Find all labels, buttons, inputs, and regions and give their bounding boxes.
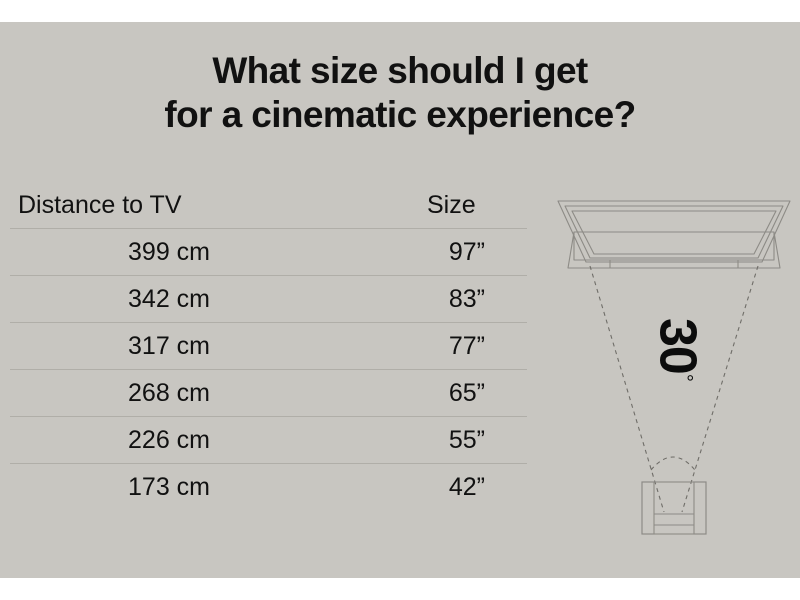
title-line-2: for a cinematic experience?: [0, 93, 800, 137]
cell-distance: 399 cm: [0, 229, 210, 276]
cell-size: 65”: [340, 370, 485, 417]
table-row: 399 cm 97”: [0, 229, 540, 276]
title-line-1: What size should I get: [0, 49, 800, 93]
cell-size: 42”: [340, 464, 485, 511]
table-row: 317 cm 77”: [0, 323, 540, 370]
distance-size-table: Distance to TV Size 399 cm 97” 342 cm 83…: [0, 182, 540, 511]
cell-size: 97”: [340, 229, 485, 276]
degree-symbol: °: [674, 374, 696, 381]
sofa-top-view: [642, 482, 706, 534]
column-header-size: Size: [427, 182, 476, 229]
infographic-panel: What size should I get for a cinematic e…: [0, 22, 800, 578]
angle-label: 30°: [655, 318, 715, 398]
cell-distance: 268 cm: [0, 370, 210, 417]
cell-distance: 226 cm: [0, 417, 210, 464]
page-title: What size should I get for a cinematic e…: [0, 49, 800, 137]
table-row: 173 cm 42”: [0, 464, 540, 511]
cell-size: 55”: [340, 417, 485, 464]
cell-distance: 173 cm: [0, 464, 210, 511]
cell-size: 77”: [340, 323, 485, 370]
angle-value: 30: [649, 318, 707, 374]
column-header-distance: Distance to TV: [18, 182, 182, 229]
table-header-row: Distance to TV Size: [0, 182, 540, 229]
infographic-canvas: What size should I get for a cinematic e…: [0, 0, 800, 600]
cell-distance: 317 cm: [0, 323, 210, 370]
cell-distance: 342 cm: [0, 276, 210, 323]
table-row: 226 cm 55”: [0, 417, 540, 464]
tv-cabinet: [568, 232, 780, 268]
table-row: 342 cm 83”: [0, 276, 540, 323]
cell-size: 83”: [340, 276, 485, 323]
table-row: 268 cm 65”: [0, 370, 540, 417]
